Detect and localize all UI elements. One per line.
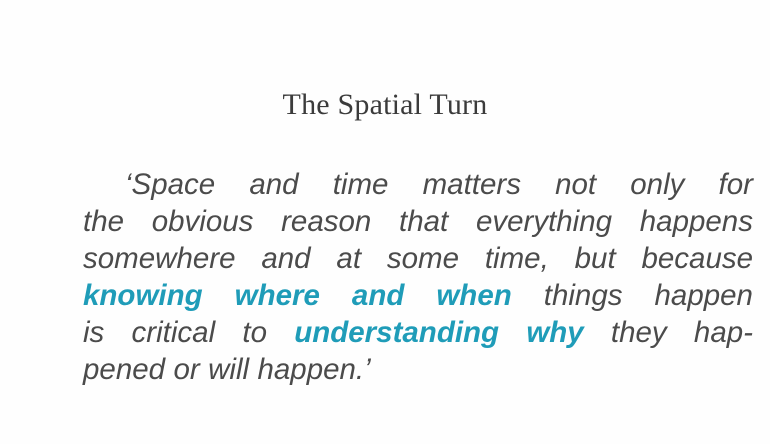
quote-word: matters (423, 168, 521, 201)
quote-highlight-word: where (235, 279, 320, 312)
quote-word: time, (485, 242, 549, 275)
quote-word: ‘Space (125, 168, 215, 201)
quote-word: and (249, 168, 298, 201)
quote-highlight-word: when (436, 279, 511, 312)
quote-word: because (641, 242, 753, 275)
quote-word: critical (132, 316, 216, 349)
quote-word: will (208, 353, 249, 386)
quote-line: pened or will happen.’ (83, 351, 753, 388)
quote-highlight-word: knowing (83, 279, 203, 312)
quote-line: ‘Space and time matters not only for (83, 166, 753, 203)
quote-word: not (555, 168, 596, 201)
quote-word: or (173, 353, 199, 386)
quote-text: ‘Space and time matters not only forthe … (83, 166, 753, 388)
quote-line: is critical to understanding why they ha… (83, 314, 753, 351)
quote-word: hap- (694, 316, 753, 349)
quote-word: and (261, 242, 310, 275)
quote-word: obvious (152, 205, 254, 238)
quote-highlight-word: why (526, 316, 583, 349)
quote-word: to (242, 316, 267, 349)
quote-line: somewhere and at some time, but because (83, 240, 753, 277)
quote-word: pened (83, 353, 165, 386)
quote-word: they (611, 316, 667, 349)
quote-highlight-word: and (352, 279, 404, 312)
quote-highlight-word: understanding (294, 316, 499, 349)
quote-word: everything (476, 205, 612, 238)
quote-word: somewhere (83, 242, 235, 275)
quote-word: for (719, 168, 753, 201)
page-title: The Spatial Turn (0, 88, 770, 121)
quote-line: the obvious reason that everything happe… (83, 203, 753, 240)
quote-word: reason (281, 205, 371, 238)
quote-word: is (83, 316, 104, 349)
quote-word: happen.’ (257, 353, 370, 386)
quote-word: happen (655, 279, 753, 312)
quote-word: some (387, 242, 459, 275)
quote-word: at (336, 242, 361, 275)
quote-line: knowing where and when things happen (83, 277, 753, 314)
quote-word: the (83, 205, 124, 238)
quote-word: that (399, 205, 448, 238)
quote-word: time (333, 168, 389, 201)
quote-word: but (575, 242, 616, 275)
quote-word: only (630, 168, 684, 201)
quote-word: happens (640, 205, 753, 238)
quote-word: things (544, 279, 623, 312)
slide-canvas: The Spatial Turn ‘Space and time matters… (0, 0, 770, 444)
